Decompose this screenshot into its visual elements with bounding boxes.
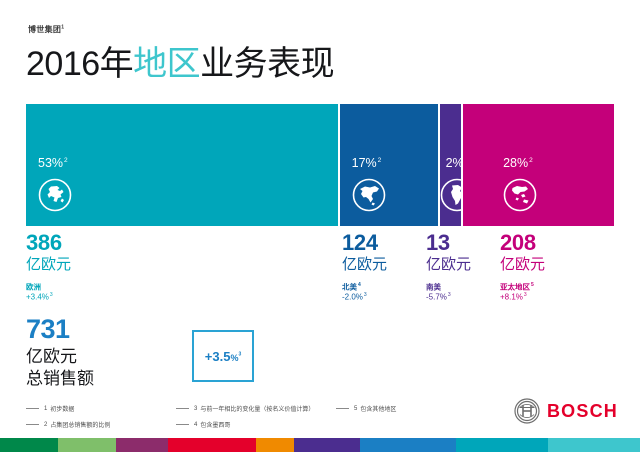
brand-label: 博世集团1	[28, 24, 64, 35]
figure-europe-region-text: 欧洲	[26, 282, 41, 291]
figure-south-america-delta: -5.7%3	[426, 292, 471, 303]
footnote-4-dash	[176, 424, 189, 425]
figure-north-america: 124 亿欧元 北美4 -2.0%3	[342, 232, 387, 303]
figure-north-america-region-text: 北美	[342, 282, 357, 291]
footnote-row-first: 1 初步数据 3 与前一年相比的变化量（按名义价值计算） 5 包含其他地区	[26, 404, 446, 413]
footnote-5: 5 包含其他地区	[336, 404, 396, 413]
bar-segment-asia-pacific-percent-superscript: 2	[529, 157, 533, 164]
footnote-3-dash	[176, 408, 189, 409]
figure-europe-value: 386	[26, 232, 71, 254]
bar-segment-north-america-percent-superscript: 2	[378, 157, 382, 164]
total-sales-block: 731 亿欧元 总销售额	[26, 316, 94, 390]
bar-segment-north-america-percent-value: 17%	[352, 156, 377, 170]
figure-north-america-unit: 亿欧元	[342, 256, 387, 275]
footnote-2-dash	[26, 424, 39, 425]
bar-segment-south-america[interactable]: 2%2	[438, 104, 462, 226]
total-sales-label: 总销售额	[26, 368, 94, 390]
figure-south-america-region: 南美	[426, 282, 471, 292]
figure-europe-unit: 亿欧元	[26, 256, 71, 275]
figure-north-america-region: 北美4	[342, 282, 387, 292]
figure-south-america: 13 亿欧元 南美 -5.7%3	[426, 232, 471, 303]
footnote-3-text: 与前一年相比的变化量（按名义价值计算）	[200, 404, 314, 413]
globe-north-america-icon	[352, 178, 386, 212]
figure-asia-pacific-value: 208	[500, 232, 545, 254]
figure-asia-pacific-region-superscript: 5	[531, 282, 534, 288]
bar-segment-europe-percent-superscript: 2	[64, 157, 68, 164]
supergraphic-band-2	[58, 438, 116, 452]
brand-label-text: 博世集团	[28, 25, 61, 34]
footnote-1-number: 1	[44, 406, 47, 412]
footnote-2-text: 占集团总销售额的比例	[50, 420, 110, 429]
figure-south-america-value: 13	[426, 232, 471, 254]
figure-asia-pacific-delta-text: +8.1%	[500, 293, 523, 302]
figure-south-america-delta-superscript: 3	[448, 292, 451, 298]
figure-asia-pacific-unit: 亿欧元	[500, 256, 545, 275]
total-sales-value: 731	[26, 316, 94, 343]
figure-asia-pacific-delta-superscript: 3	[524, 292, 527, 298]
figure-north-america-delta-superscript: 3	[364, 292, 367, 298]
footnote-4: 4 包含墨西哥	[176, 420, 230, 429]
footnote-3: 3 与前一年相比的变化量（按名义价值计算）	[176, 404, 336, 413]
footnote-4-text: 包含墨西哥	[200, 420, 230, 429]
footnote-4-number: 4	[194, 422, 197, 428]
footnote-row-second: 2 占集团总销售额的比例 4 包含墨西哥	[26, 420, 446, 429]
figure-north-america-region-superscript: 4	[358, 282, 361, 288]
figure-north-america-delta: -2.0%3	[342, 292, 387, 303]
figure-europe-delta-superscript: 3	[50, 292, 53, 298]
figure-europe: 386 亿欧元 欧洲 +3.4%3	[26, 232, 71, 303]
figure-north-america-delta-text: -2.0%	[342, 293, 363, 302]
figure-asia-pacific-region: 亚太地区5	[500, 282, 545, 292]
figure-asia-pacific: 208 亿欧元 亚太地区5 +8.1%3	[500, 232, 545, 303]
globe-europe-icon	[38, 178, 72, 212]
bar-segment-asia-pacific-percent: 28%2	[503, 156, 533, 170]
supergraphic-band-1	[0, 438, 58, 452]
bar-segment-europe-percent-value: 53%	[38, 156, 63, 170]
supergraphic-band-6	[294, 438, 360, 452]
page-title: 2016年地区业务表现	[26, 36, 334, 85]
supergraphic-band-4	[168, 438, 256, 452]
brand-label-superscript: 1	[61, 24, 64, 30]
figure-europe-delta: +3.4%3	[26, 292, 71, 303]
footnote-2: 2 占集团总销售额的比例	[26, 420, 176, 429]
supergraphic-band-3	[116, 438, 168, 452]
footnote-1-dash	[26, 408, 39, 409]
supergraphic-band-7	[360, 438, 456, 452]
page-title-prefix: 2016年	[26, 45, 133, 83]
total-growth-text: +3.5%3	[205, 349, 241, 364]
figure-europe-region: 欧洲	[26, 282, 71, 292]
footnote-1-text: 初步数据	[50, 404, 74, 413]
bosch-wordmark: BOSCH	[547, 401, 618, 422]
total-growth-superscript: 3	[238, 351, 241, 357]
bar-segment-north-america-percent: 17%2	[352, 156, 382, 170]
supergraphic-band-5	[256, 438, 294, 452]
page-title-accent: 地区	[133, 45, 200, 83]
figure-south-america-delta-text: -5.7%	[426, 293, 447, 302]
bar-segment-europe-percent: 53%2	[38, 156, 68, 170]
footnotes: 1 初步数据 3 与前一年相比的变化量（按名义价值计算） 5 包含其他地区 2 …	[26, 404, 446, 436]
figure-north-america-value: 124	[342, 232, 387, 254]
bosch-logo: BOSCH	[514, 398, 618, 424]
regional-share-bar-chart: 53%2 17%2 2%2	[26, 104, 614, 226]
figure-europe-delta-text: +3.4%	[26, 293, 49, 302]
total-growth-value: +3.5	[205, 349, 231, 364]
footnote-1: 1 初步数据	[26, 404, 176, 413]
bosch-supergraphic	[0, 438, 640, 452]
bar-segment-asia-pacific-percent-value: 28%	[503, 156, 528, 170]
footnote-5-text: 包含其他地区	[360, 404, 396, 413]
total-growth-box: +3.5%3	[192, 330, 254, 382]
figure-asia-pacific-region-text: 亚太地区	[500, 282, 530, 291]
bar-segment-north-america[interactable]: 17%2	[338, 104, 438, 226]
bar-segment-asia-pacific[interactable]: 28%2	[461, 104, 614, 226]
globe-asia-pacific-icon	[503, 178, 537, 212]
supergraphic-band-9	[548, 438, 640, 452]
page-title-suffix: 业务表现	[200, 45, 334, 83]
supergraphic-band-8	[456, 438, 548, 452]
footnote-5-dash	[336, 408, 349, 409]
figure-asia-pacific-delta: +8.1%3	[500, 292, 545, 303]
figure-south-america-unit: 亿欧元	[426, 256, 471, 275]
figure-south-america-region-text: 南美	[426, 282, 441, 291]
footnote-5-number: 5	[354, 406, 357, 412]
bar-segment-europe[interactable]: 53%2	[26, 104, 338, 226]
footnote-2-number: 2	[44, 422, 47, 428]
regional-figures-row: 386 亿欧元 欧洲 +3.4%3 124 亿欧元 北美4 -2.0%3 13 …	[26, 232, 614, 304]
footnote-3-number: 3	[194, 406, 197, 412]
bosch-anchor-icon	[514, 398, 540, 424]
total-sales-unit: 亿欧元	[26, 346, 94, 368]
